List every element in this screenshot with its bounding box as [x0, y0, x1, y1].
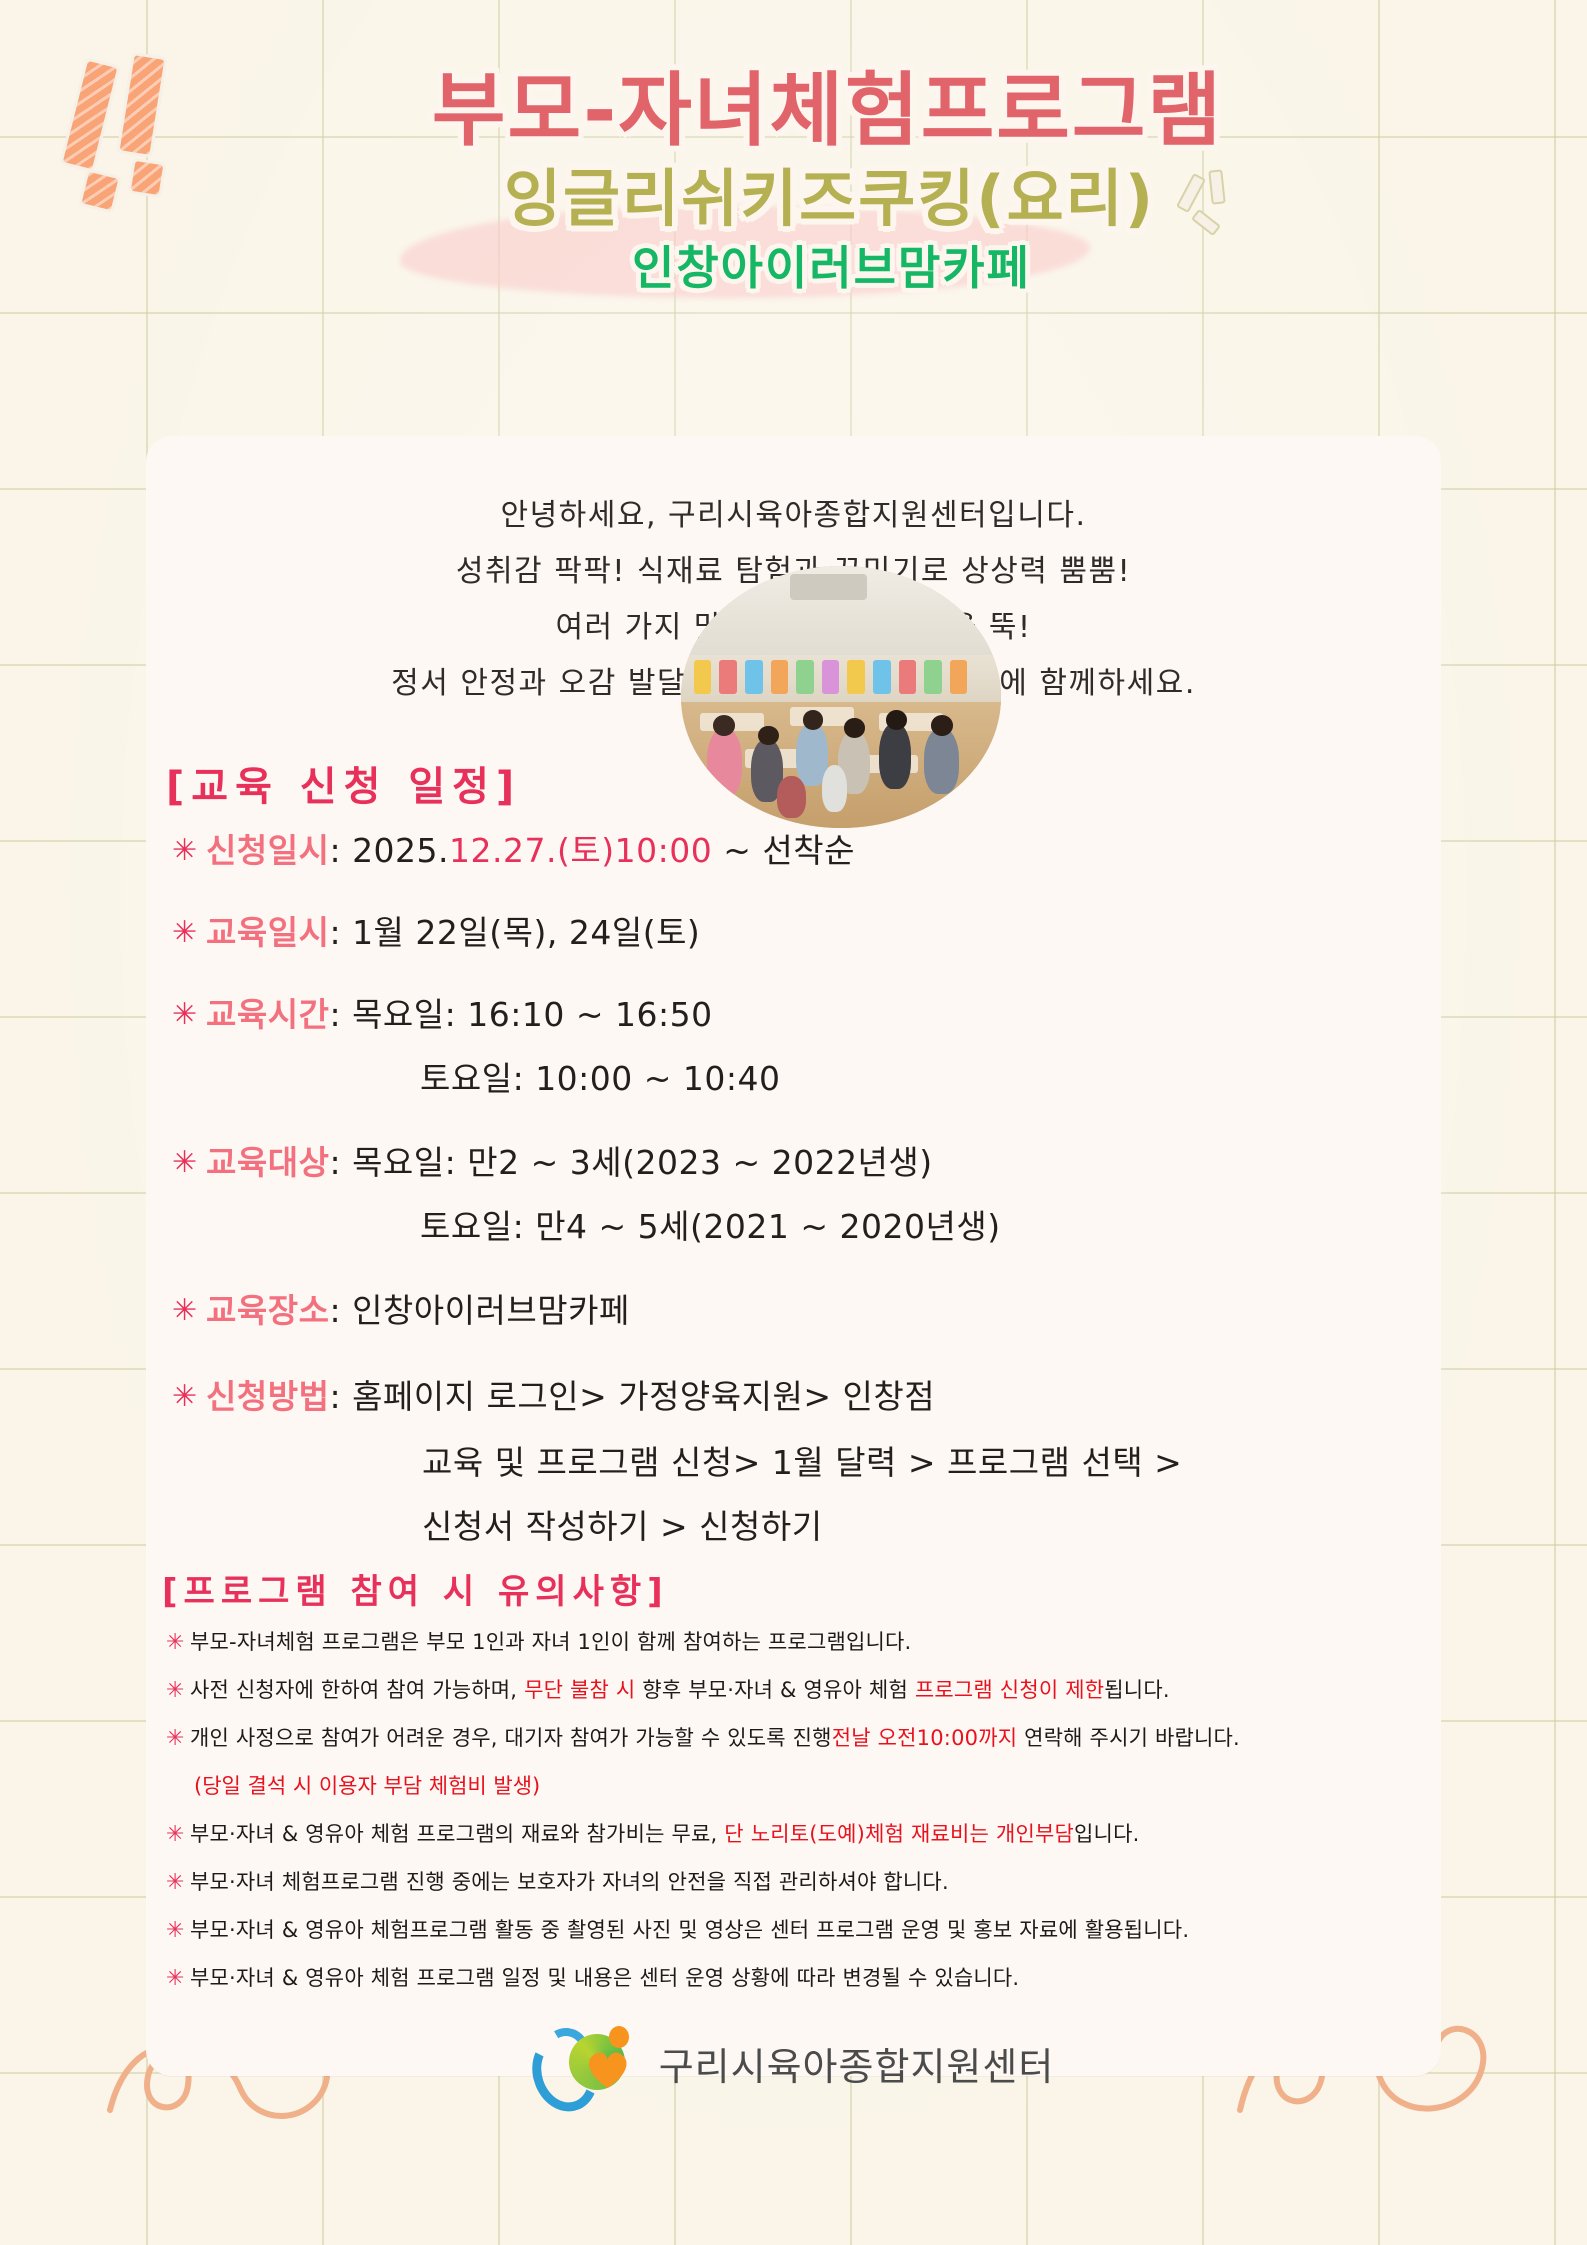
star-bullet-icon: ✳ [166, 1966, 190, 1991]
notice-text-highlight: 무단 불참 시 [524, 1678, 642, 1702]
notice-text: 부모·자녀 & 영유아 체험프로그램 활동 중 촬영된 사진 및 영상은 센터 … [190, 1918, 1189, 1942]
star-bullet-icon: ✳ [172, 833, 206, 868]
schedule-row-education-date: ✳교육일시: 1월 22일(목), 24일(토) [172, 906, 700, 954]
notice-item: ✳부모·자녀 체험프로그램 진행 중에는 보호자가 자녀의 안전을 직접 관리하… [166, 1866, 949, 1896]
schedule-value: 홈페이지 로그인> 가정양육지원> 인창점 [352, 1377, 935, 1416]
notice-text: 사전 신청자에 한하여 참여 가능하며, [190, 1678, 524, 1702]
schedule-subrow-education-target-sat: 토요일: 만4 ~ 5세(2021 ~ 2020년생) [420, 1200, 1001, 1248]
notice-item: ✳사전 신청자에 한하여 참여 가능하며, 무단 불참 시 향후 부모·자녀 &… [166, 1674, 1170, 1704]
notice-subnote: (당일 결석 시 이용자 부담 체험비 발생) [194, 1770, 540, 1800]
schedule-row-education-place: ✳교육장소: 인창아이러브맘카페 [172, 1284, 630, 1332]
poster-content-card: 안녕하세요, 구리시육아종합지원센터입니다. 성취감 팍팍! 식재료 탐험과 꾸… [146, 436, 1441, 2076]
schedule-value: 인창아이러브맘카페 [352, 1291, 630, 1330]
schedule-value-prefix: 2025. [352, 831, 449, 870]
poster-title-line-1: 부모-자녀체험프로그램 [34, 46, 1587, 162]
schedule-row-education-target: ✳교육대상: 목요일: 만2 ~ 3세(2023 ~ 2022년생) [172, 1136, 933, 1184]
notice-text: 부모·자녀 & 영유아 체험 프로그램 일정 및 내용은 센터 운영 상황에 따… [190, 1966, 1019, 1990]
notice-item: ✳부모·자녀 & 영유아 체험 프로그램의 재료와 참가비는 무료, 단 노리토… [166, 1818, 1139, 1848]
poster-header: 부모-자녀체험프로그램 잉글리쉬키즈쿠킹(요리) 인창아이러브맘카페 [0, 0, 1587, 300]
notice-text-highlight: 전날 오전10:00까지 [832, 1726, 1018, 1750]
notice-heading: [프로그램 참여 시 유의사항] [162, 1564, 669, 1613]
notice-text: 됩니다. [1104, 1678, 1169, 1702]
schedule-label: 신청일시 [206, 831, 329, 870]
schedule-subrow-education-time-sat: 토요일: 10:00 ~ 10:40 [420, 1052, 781, 1100]
schedule-row-education-time: ✳교육시간: 목요일: 16:10 ~ 16:50 [172, 988, 713, 1036]
intro-line: 안녕하세요, 구리시육아종합지원센터입니다. [146, 488, 1441, 544]
star-bullet-icon: ✳ [166, 1822, 190, 1847]
notice-text-highlight: 단 노리토(도예)체험 재료비는 개인부담 [724, 1822, 1074, 1846]
star-bullet-icon: ✳ [172, 997, 206, 1032]
star-bullet-icon: ✳ [166, 1870, 190, 1895]
notice-text: 부모·자녀 & 영유아 체험 프로그램의 재료와 참가비는 무료, [190, 1822, 724, 1846]
notice-text: 부모·자녀 체험프로그램 진행 중에는 보호자가 자녀의 안전을 직접 관리하셔… [190, 1870, 949, 1894]
notice-text: 향후 부모·자녀 & 영유아 체험 [642, 1678, 915, 1702]
notice-text: 개인 사정으로 참여가 어려운 경우, 대기자 참여가 가능할 수 있도록 진행 [190, 1726, 832, 1750]
center-logo-icon [533, 2026, 641, 2100]
program-photo [681, 566, 1001, 828]
notice-item: ✳부모-자녀체험 프로그램은 부모 1인과 자녀 1인이 함께 참여하는 프로그… [166, 1626, 911, 1656]
schedule-value: 목요일: 만2 ~ 3세(2023 ~ 2022년생) [352, 1143, 933, 1182]
schedule-label: 교육일시 [206, 913, 329, 952]
star-bullet-icon: ✳ [172, 1145, 206, 1180]
schedule-subrow-application-step-3: 신청서 작성하기 > 신청하기 [422, 1500, 823, 1548]
schedule-label: 교육시간 [206, 995, 329, 1034]
notice-text: 입니다. [1074, 1822, 1139, 1846]
schedule-value: 1월 22일(목), 24일(토) [352, 913, 700, 952]
notice-item: ✳부모·자녀 & 영유아 체험프로그램 활동 중 촬영된 사진 및 영상은 센터… [166, 1914, 1189, 1944]
star-bullet-icon: ✳ [172, 1379, 206, 1414]
footer-logo: 구리시육아종합지원센터 [146, 2026, 1441, 2100]
notice-text: 연락해 주시기 바랍니다. [1017, 1726, 1240, 1750]
schedule-row-application-method: ✳신청방법: 홈페이지 로그인> 가정양육지원> 인창점 [172, 1370, 935, 1418]
schedule-value-suffix: ~ 선착순 [712, 831, 855, 870]
star-bullet-icon: ✳ [166, 1726, 190, 1751]
schedule-label: 교육장소 [206, 1291, 329, 1330]
star-bullet-icon: ✳ [172, 1293, 206, 1328]
schedule-value-highlight: 12.27.(토)10:00 [449, 831, 712, 870]
star-bullet-icon: ✳ [166, 1918, 190, 1943]
notice-item: ✳부모·자녀 & 영유아 체험 프로그램 일정 및 내용은 센터 운영 상황에 … [166, 1962, 1019, 1992]
schedule-subrow-application-step-2: 교육 및 프로그램 신청> 1월 달력 > 프로그램 선택 > [422, 1436, 1182, 1484]
schedule-label: 신청방법 [206, 1377, 329, 1416]
star-bullet-icon: ✳ [172, 915, 206, 950]
star-bullet-icon: ✳ [166, 1678, 190, 1703]
poster-title-line-2: 잉글리쉬키즈쿠킹(요리) [36, 148, 1587, 238]
poster-title-line-3: 인창아이러브맘카페 [38, 232, 1587, 298]
notice-item: ✳개인 사정으로 참여가 어려운 경우, 대기자 참여가 가능할 수 있도록 진… [166, 1722, 1240, 1752]
schedule-heading: [교육 신청 일정] [166, 754, 521, 812]
schedule-value: 목요일: 16:10 ~ 16:50 [352, 995, 713, 1034]
schedule-label: 교육대상 [206, 1143, 329, 1182]
star-bullet-icon: ✳ [166, 1630, 190, 1655]
schedule-row-application-datetime: ✳신청일시: 2025.12.27.(토)10:00 ~ 선착순 [172, 824, 855, 872]
organization-name: 구리시육아종합지원센터 [659, 2036, 1055, 2091]
notice-text: 부모-자녀체험 프로그램은 부모 1인과 자녀 1인이 함께 참여하는 프로그램… [190, 1630, 911, 1654]
notice-text-highlight: 프로그램 신청이 제한 [915, 1678, 1104, 1702]
